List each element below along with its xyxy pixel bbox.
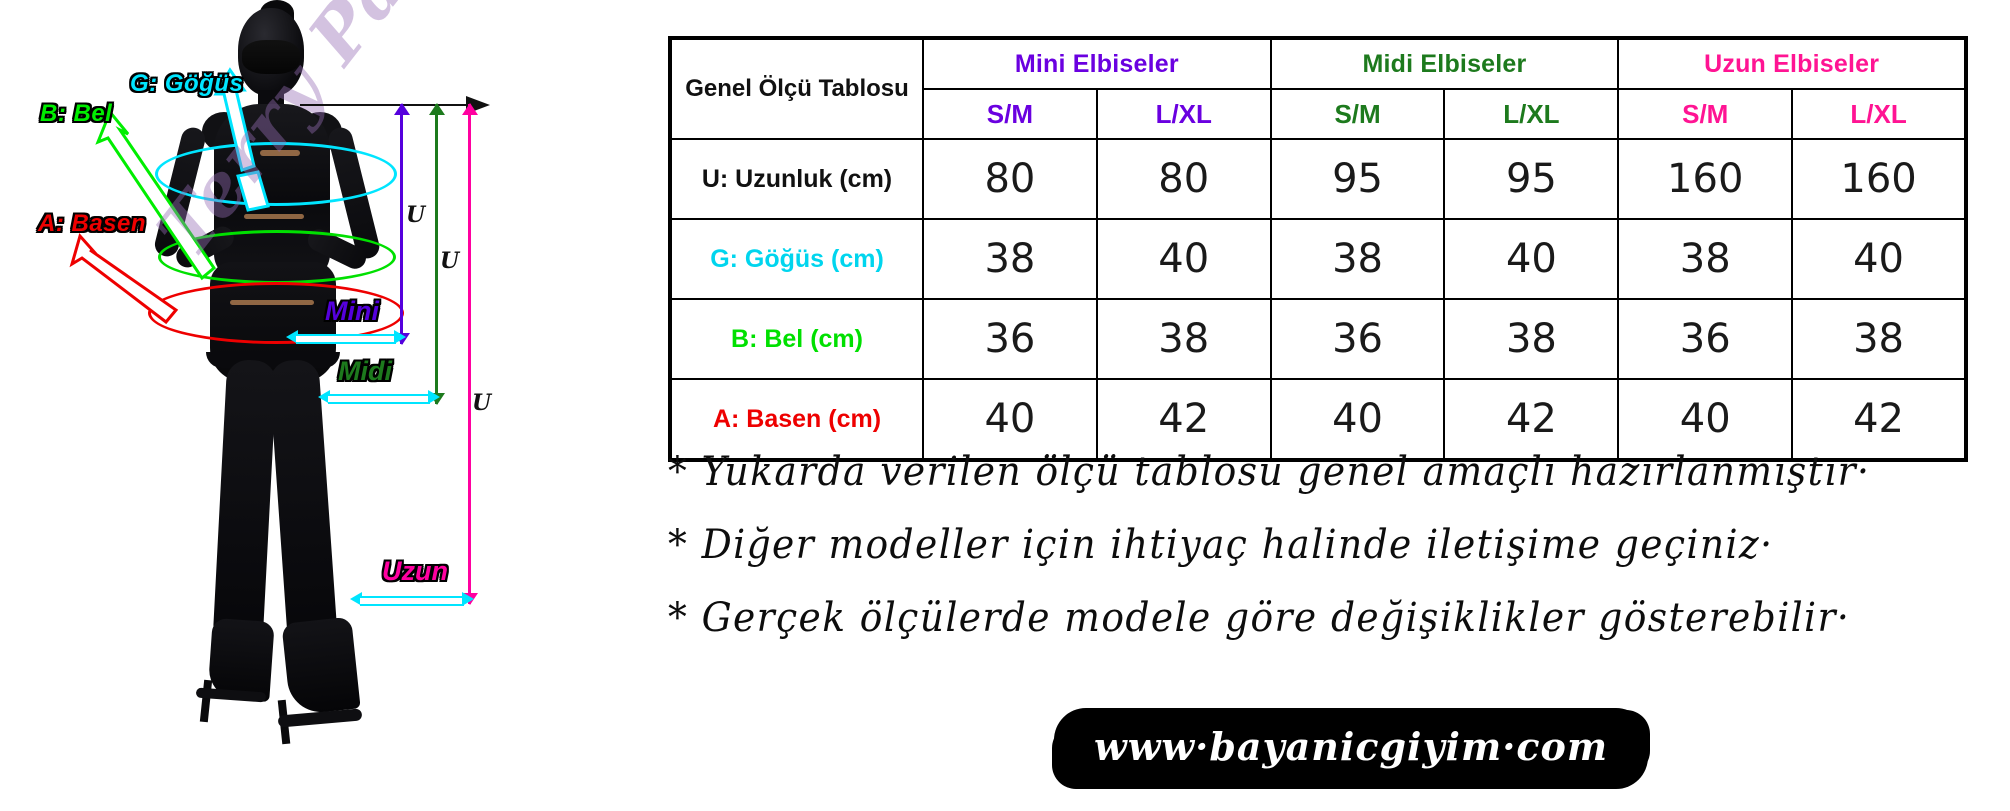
cell-gogus-mini-lxl: 40 <box>1097 219 1271 299</box>
hip-measure-label: A: Basen <box>38 210 146 238</box>
heel-left-shape <box>200 680 212 723</box>
table-row: B: Bel (cm) 36 38 36 38 36 38 <box>670 299 1966 379</box>
group-header-uzun: Uzun Elbiseler <box>1618 38 1966 89</box>
cell-uzunluk-mini-sm: 80 <box>923 139 1097 219</box>
size-table-wrapper: Genel Ölçü Tablosu Mini Elbiseler Midi E… <box>668 36 1968 462</box>
boot-right-shape <box>281 617 360 716</box>
table-row: A: Basen (cm) 40 42 40 42 40 42 <box>670 379 1966 460</box>
row-label-bel: B: Bel (cm) <box>670 299 923 379</box>
size-header-uzun-sm: S/M <box>1618 89 1792 139</box>
bust-measure-label: G: Göğüs <box>130 70 243 98</box>
uzun-length-label: Uzun <box>382 556 448 587</box>
cell-basen-uzun-sm: 40 <box>1618 379 1792 460</box>
table-group-header-row: Genel Ölçü Tablosu Mini Elbiseler Midi E… <box>670 38 1966 89</box>
uzun-length-axis <box>468 104 471 604</box>
axis-mark-midi: U <box>440 248 459 274</box>
mini-length-label: Mini <box>325 296 379 327</box>
size-header-midi-lxl: L/XL <box>1444 89 1618 139</box>
row-label-basen: A: Basen (cm) <box>670 379 923 460</box>
note-line-2: * Diğer modeller için ihtiyaç halinde il… <box>668 525 1909 565</box>
sole-right-shape <box>278 708 363 727</box>
midi-length-label: Midi <box>338 356 392 387</box>
cell-uzunluk-mini-lxl: 80 <box>1097 139 1271 219</box>
cell-basen-midi-sm: 40 <box>1271 379 1445 460</box>
note-line-1: * Yukarda verilen ölçü tablosu genel ama… <box>668 452 1909 492</box>
size-header-mini-sm: S/M <box>923 89 1097 139</box>
cell-bel-midi-lxl: 38 <box>1444 299 1618 379</box>
cell-basen-midi-lxl: 42 <box>1444 379 1618 460</box>
size-header-midi-sm: S/M <box>1271 89 1445 139</box>
row-label-gogus: G: Göğüs (cm) <box>670 219 923 299</box>
size-table: Genel Ölçü Tablosu Mini Elbiseler Midi E… <box>668 36 1968 462</box>
size-chart-page: G: Göğüs B: Bel A: Basen Terry Pau U U U <box>0 0 2010 811</box>
cell-bel-uzun-sm: 36 <box>1618 299 1792 379</box>
axis-mark-uzun: U <box>472 390 491 416</box>
skirt-hem-shape <box>206 352 340 368</box>
group-header-midi: Midi Elbiseler <box>1271 38 1619 89</box>
website-url-badge[interactable]: www·bayanicgiyim·com <box>1060 714 1642 783</box>
size-header-uzun-lxl: L/XL <box>1792 89 1966 139</box>
table-row: U: Uzunluk (cm) 80 80 95 95 160 160 <box>670 139 1966 219</box>
group-header-mini: Mini Elbiseler <box>923 38 1271 89</box>
row-label-uzunluk: U: Uzunluk (cm) <box>670 139 923 219</box>
leg-left-shape <box>213 359 278 641</box>
mini-hem-arrow <box>286 330 406 344</box>
midi-length-axis <box>435 104 438 404</box>
cell-gogus-midi-lxl: 40 <box>1444 219 1618 299</box>
cell-basen-uzun-lxl: 42 <box>1792 379 1966 460</box>
waist-measure-label: B: Bel <box>40 100 112 128</box>
size-header-mini-lxl: L/XL <box>1097 89 1271 139</box>
cell-gogus-uzun-lxl: 40 <box>1792 219 1966 299</box>
mini-length-axis <box>400 104 403 344</box>
cell-bel-mini-sm: 36 <box>923 299 1097 379</box>
table-corner-label: Genel Ölçü Tablosu <box>670 38 923 139</box>
cell-uzunluk-midi-sm: 95 <box>1271 139 1445 219</box>
cell-basen-mini-sm: 40 <box>923 379 1097 460</box>
table-row: G: Göğüs (cm) 38 40 38 40 38 40 <box>670 219 1966 299</box>
cell-gogus-midi-sm: 38 <box>1271 219 1445 299</box>
model-illustration-panel: G: Göğüs B: Bel A: Basen Terry Pau U U U <box>0 0 660 811</box>
cell-bel-mini-lxl: 38 <box>1097 299 1271 379</box>
midi-hem-arrow <box>318 390 440 404</box>
notes-block: * Yukarda verilen ölçü tablosu genel ama… <box>668 452 1988 671</box>
cell-basen-mini-lxl: 42 <box>1097 379 1271 460</box>
cell-bel-midi-sm: 36 <box>1271 299 1445 379</box>
cell-uzunluk-uzun-sm: 160 <box>1618 139 1792 219</box>
uzun-hem-arrow <box>350 592 474 606</box>
axis-mark-mini: U <box>406 202 425 228</box>
note-line-3: * Gerçek ölçülerde modele göre değişikli… <box>668 598 1909 638</box>
cell-gogus-uzun-sm: 38 <box>1618 219 1792 299</box>
cell-bel-uzun-lxl: 38 <box>1792 299 1966 379</box>
cell-uzunluk-midi-lxl: 95 <box>1444 139 1618 219</box>
cell-uzunluk-uzun-lxl: 160 <box>1792 139 1966 219</box>
cell-gogus-mini-sm: 38 <box>923 219 1097 299</box>
